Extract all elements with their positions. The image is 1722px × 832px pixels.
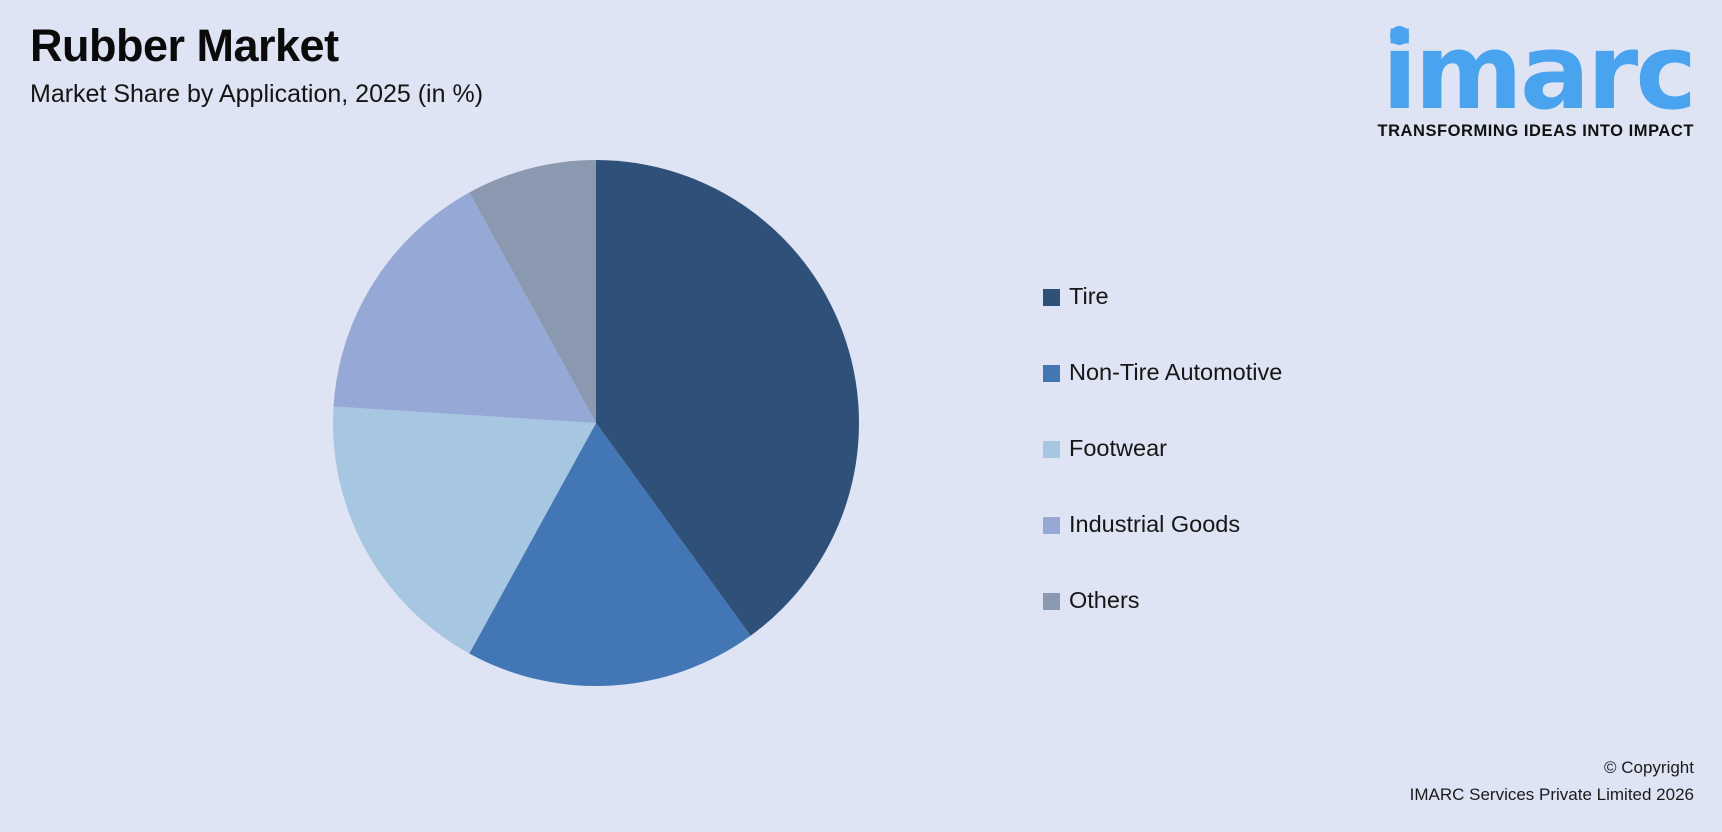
legend-item[interactable]: Industrial Goods [1043, 512, 1282, 538]
page-title: Rubber Market [30, 22, 930, 69]
legend-swatch-icon [1043, 517, 1060, 534]
copyright-line-2: IMARC Services Private Limited 2026 [1410, 782, 1694, 808]
legend-swatch-icon [1043, 593, 1060, 610]
page-subtitle: Market Share by Application, 2025 (in %) [30, 81, 930, 109]
legend-item-label: Non-Tire Automotive [1069, 361, 1282, 385]
chart-legend: TireNon-Tire AutomotiveFootwearIndustria… [1043, 284, 1282, 614]
legend-item-label: Footwear [1069, 437, 1167, 461]
legend-item[interactable]: Others [1043, 588, 1282, 614]
legend-swatch-icon [1043, 441, 1060, 458]
legend-item-label: Tire [1069, 285, 1109, 309]
logo-wordmark: imarc [1382, 20, 1694, 124]
infographic-canvas: Rubber Market Market Share by Applicatio… [0, 0, 1722, 832]
copyright-block: © Copyright IMARC Services Private Limit… [1410, 755, 1694, 808]
legend-swatch-icon [1043, 289, 1060, 306]
copyright-line-1: © Copyright [1410, 755, 1694, 781]
legend-item[interactable]: Non-Tire Automotive [1043, 360, 1282, 386]
legend-item-label: Others [1069, 589, 1140, 613]
imarc-logo: imarc TRANSFORMING IDEAS INTO IMPACT [1364, 14, 1694, 141]
legend-swatch-icon [1043, 365, 1060, 382]
legend-item-label: Industrial Goods [1069, 513, 1240, 537]
pie-slice-group [333, 160, 859, 686]
pie-chart-svg [333, 160, 859, 686]
header: Rubber Market Market Share by Applicatio… [30, 22, 930, 109]
legend-item[interactable]: Tire [1043, 284, 1282, 310]
logo-mark: imarc [1364, 14, 1694, 118]
legend-item[interactable]: Footwear [1043, 436, 1282, 462]
pie-chart [333, 160, 859, 686]
